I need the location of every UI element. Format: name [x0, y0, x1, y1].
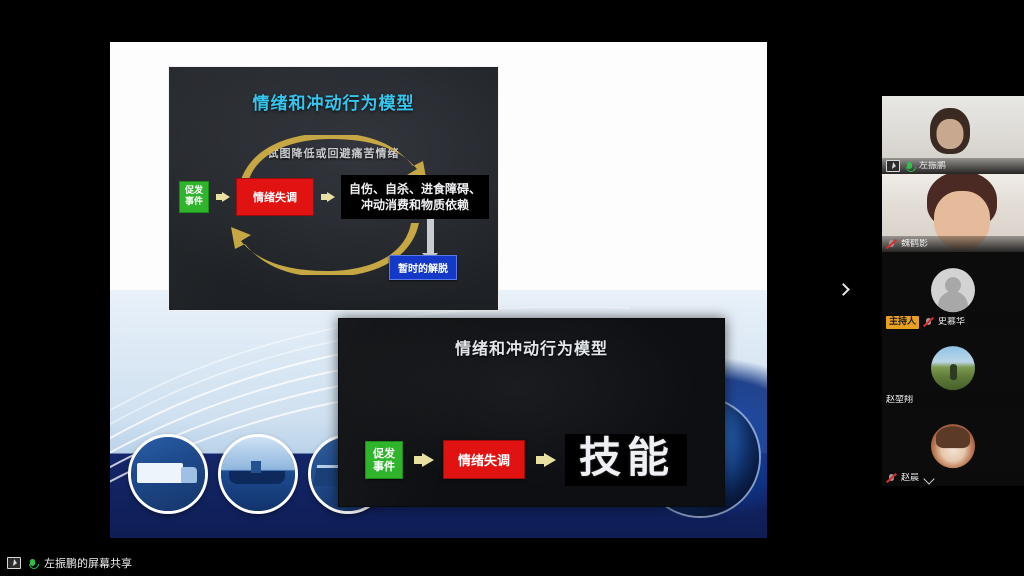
participant-name: 魏鹤影 [901, 239, 928, 249]
upper-model-capture: 情绪和冲动行为模型 试图降低或回避痛苦情绪 促发 事件 情绪失调 自伤、自杀、进… [168, 66, 499, 311]
mic-off-icon [886, 473, 897, 484]
participant-namebar: 赵堃翔 [882, 392, 1024, 408]
outcome-line-1: 自伤、自杀、进食障碍、 [349, 181, 481, 197]
upper-capture-title: 情绪和冲动行为模型 [169, 89, 498, 114]
participant-namebar: 左振鹏 [882, 158, 1024, 174]
lower-flow-row: 促发 事件 情绪失调 技能 [365, 434, 687, 486]
arrow-right-icon [222, 192, 230, 202]
screen-share-stage[interactable]: 情绪和冲动行为模型 试图降低或回避痛苦情绪 促发 事件 情绪失调 自伤、自杀、进… [110, 42, 767, 538]
mic-on-icon [27, 558, 38, 569]
emotion-dysregulation-box: 情绪失调 [236, 178, 314, 216]
participant-namebar: 主持人 史慕华 [882, 314, 1024, 330]
truck-photo-circle [128, 434, 208, 514]
avatar [931, 346, 975, 390]
arrow-right-icon-lower [422, 453, 434, 467]
lower-capture-title: 情绪和冲动行为模型 [339, 335, 724, 359]
collapse-filmstrip-button[interactable] [836, 272, 852, 306]
screen-share-icon [886, 160, 900, 172]
chevron-right-icon [838, 283, 850, 295]
arrow-down-icon [427, 219, 434, 255]
ship-photo-circle [218, 434, 298, 514]
participant-tile[interactable]: 主持人 史慕华 [882, 252, 1024, 330]
participant-name: 左振鹏 [919, 161, 946, 171]
arrow-right-icon-lower-2 [544, 453, 556, 467]
skill-box: 技能 [565, 434, 687, 486]
trigger-line-1: 促发 [185, 186, 203, 197]
arrow-right-icon-2 [327, 192, 335, 202]
trigger-line-2-lower: 事件 [373, 460, 395, 473]
participant-namebar: 赵晨 [882, 470, 1024, 486]
outcome-box: 自伤、自杀、进食障碍、 冲动消费和物质依赖 [341, 175, 489, 219]
participant-name: 赵晨 [901, 473, 919, 483]
avatar [931, 424, 975, 468]
participant-tile[interactable]: 魏鹤影 [882, 174, 1024, 252]
meeting-window: 情绪和冲动行为模型 试图降低或回避痛苦情绪 促发 事件 情绪失调 自伤、自杀、进… [0, 0, 1024, 576]
participant-filmstrip[interactable]: 左振鹏 魏鹤影 主持人 史慕华 [882, 96, 1024, 486]
lower-model-capture: 情绪和冲动行为模型 促发 事件 情绪失调 技能 [338, 318, 725, 507]
mic-off-icon [886, 239, 897, 250]
participant-namebar: 魏鹤影 [882, 236, 1024, 252]
participant-name: 赵堃翔 [886, 395, 913, 405]
mic-off-icon [923, 317, 934, 328]
upper-flow-row: 促发 事件 情绪失调 自伤、自杀、进食障碍、 冲动消费和物质依赖 [179, 175, 489, 219]
sharing-status-bar: 左振鹏的屏幕共享 [0, 550, 1024, 576]
trigger-event-box-lower: 促发 事件 [365, 441, 403, 479]
mic-on-icon [904, 161, 915, 172]
temporary-relief-box: 暂时的解脱 [389, 255, 457, 280]
outcome-line-2: 冲动消费和物质依赖 [349, 197, 481, 213]
sharing-status-text: 左振鹏的屏幕共享 [44, 557, 132, 570]
screen-share-icon [7, 557, 21, 569]
participant-tile[interactable]: 赵堃翔 [882, 330, 1024, 408]
participant-tile[interactable]: 左振鹏 [882, 96, 1024, 174]
participant-name: 史慕华 [938, 317, 965, 327]
emotion-dysregulation-box-lower: 情绪失调 [443, 440, 525, 479]
host-badge: 主持人 [886, 316, 919, 329]
avatar [931, 268, 975, 312]
trigger-line-2: 事件 [185, 197, 203, 208]
trigger-line-1-lower: 促发 [373, 447, 395, 460]
chevron-down-icon[interactable] [923, 471, 937, 485]
trigger-event-box: 促发 事件 [179, 181, 209, 213]
participant-tile[interactable]: 赵晨 [882, 408, 1024, 486]
